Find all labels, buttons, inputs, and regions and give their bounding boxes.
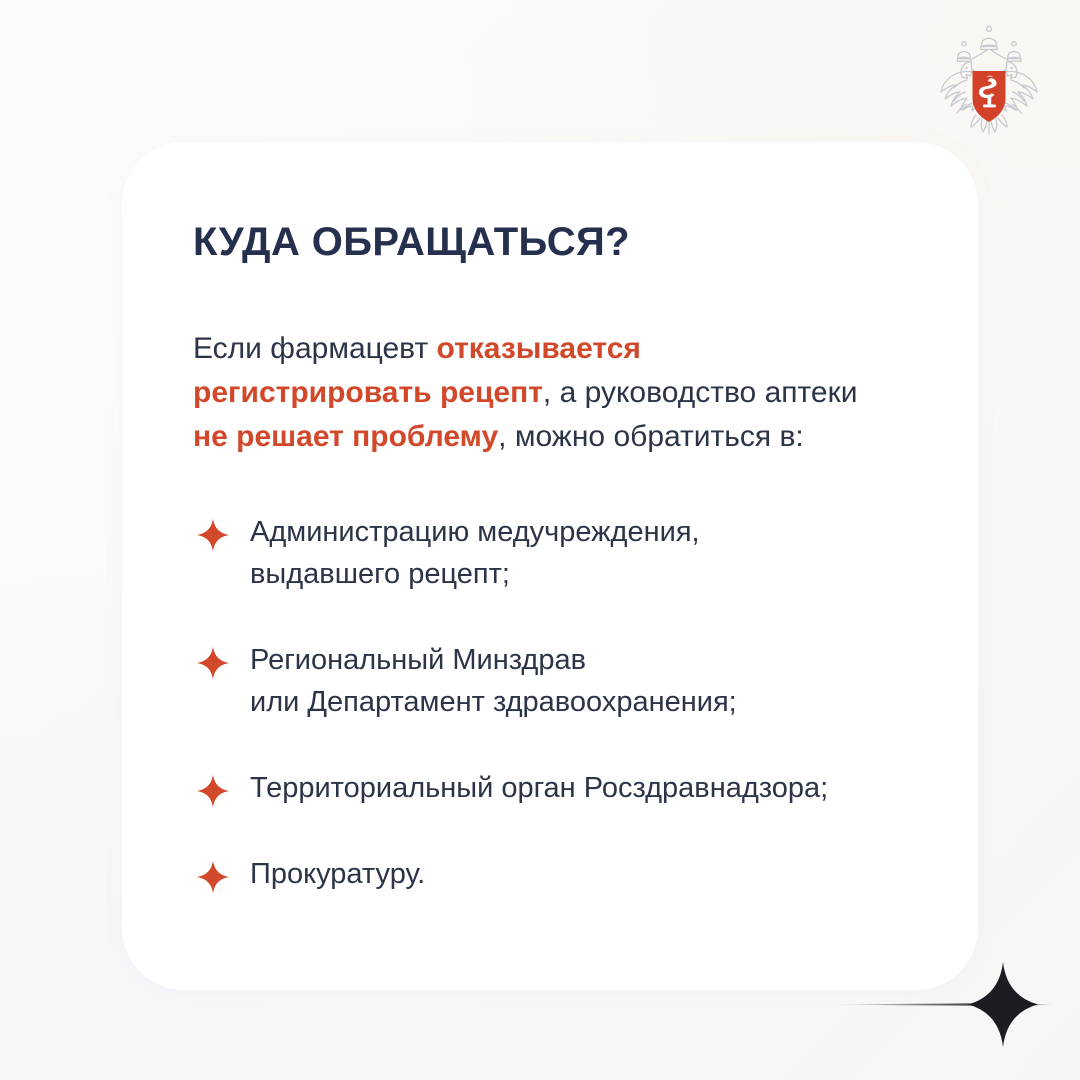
intro-text: , можно обратиться в: <box>498 420 804 453</box>
list-item-line: или Департамент здравоохранения; <box>250 681 938 723</box>
list-item: Прокуратуру. <box>193 853 938 895</box>
page-title: КУДА ОБРАЩАТЬСЯ? <box>193 220 938 265</box>
content-card: КУДА ОБРАЩАТЬСЯ? Если фармацевт отказыва… <box>122 142 978 990</box>
list-item: Территориальный орган Росздравнадзора; <box>193 767 938 809</box>
ministry-of-health-russia-emblem <box>926 18 1052 144</box>
four-point-star-icon <box>196 774 230 808</box>
four-point-star-icon <box>196 646 230 680</box>
list-item-line: Территориальный орган Росздравнадзора; <box>250 767 938 809</box>
intro-text: , а руководство аптеки <box>543 376 858 409</box>
intro-paragraph: Если фармацевт отказывается регистрирова… <box>193 327 883 459</box>
card-inner: КУДА ОБРАЩАТЬСЯ? Если фармацевт отказыва… <box>193 220 938 895</box>
list-item-line: Прокуратуру. <box>250 853 938 895</box>
list-item-line: Региональный Минздрав <box>250 639 938 681</box>
list-item: Региональный Минздравили Департамент здр… <box>193 639 938 723</box>
list-item-line: выдавшего рецепт; <box>250 553 938 595</box>
poster-canvas: КУДА ОБРАЩАТЬСЯ? Если фармацевт отказыва… <box>0 0 1080 1080</box>
list-item: Администрацию медучреждения,выдавшего ре… <box>193 511 938 595</box>
four-point-star-icon <box>196 860 230 894</box>
list-item-line: Администрацию медучреждения, <box>250 511 938 553</box>
intro-text: Если фармацевт <box>193 332 437 365</box>
destination-list: Администрацию медучреждения,выдавшего ре… <box>193 511 938 895</box>
intro-highlight: не решает проблему <box>193 420 498 453</box>
four-point-star-icon <box>196 518 230 552</box>
